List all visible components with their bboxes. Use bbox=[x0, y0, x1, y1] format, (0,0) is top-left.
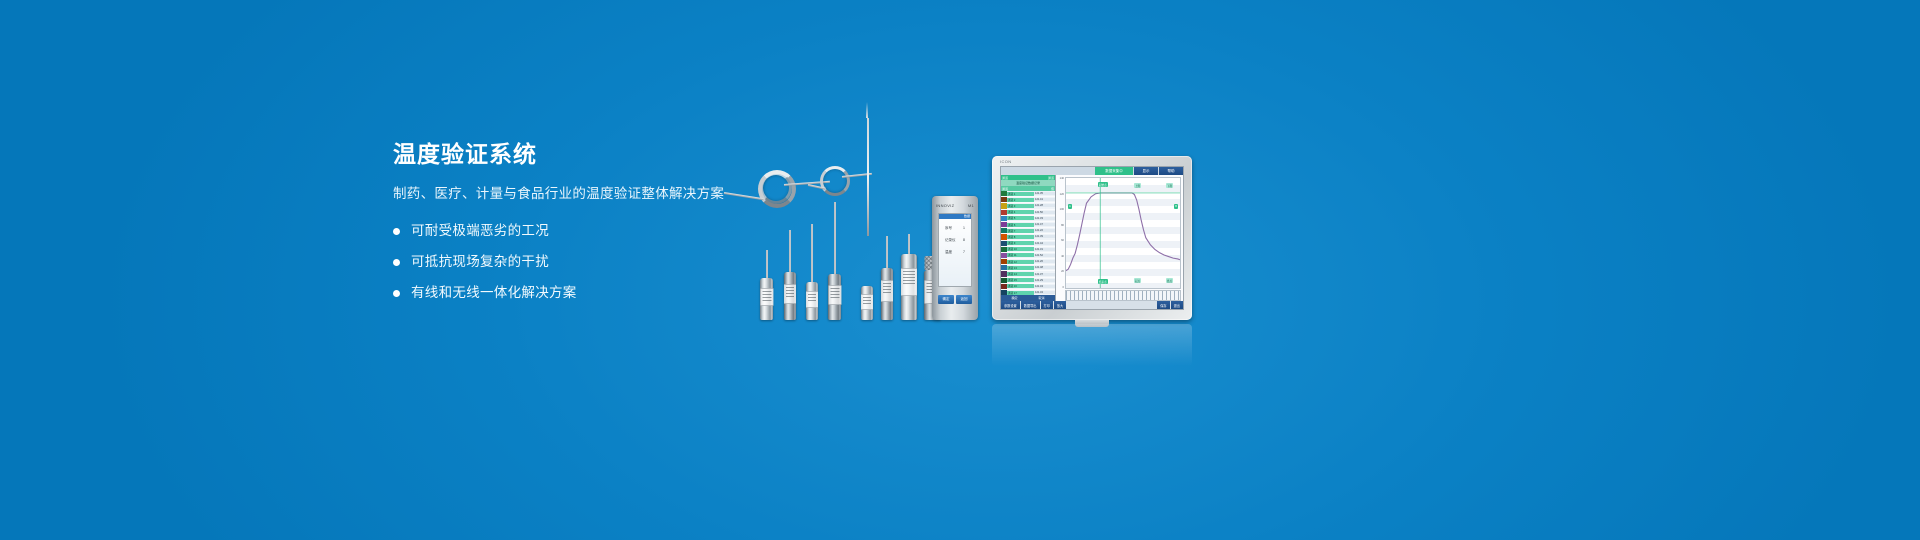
probe-coil-ring-inner bbox=[760, 172, 792, 204]
bottom-button-exit[interactable]: 退出 bbox=[1171, 301, 1183, 309]
channel-name-cell: 通道 15 bbox=[1007, 278, 1034, 282]
channel-value-cell: 121.28 bbox=[1034, 204, 1055, 207]
sensor-cylinder-7 bbox=[901, 234, 917, 320]
channel-value-cell: 121.52 bbox=[1034, 254, 1055, 257]
chart-y-tick: 0 bbox=[1063, 286, 1064, 289]
monitor-body: 通道 通道 温度验证数据记录 通道 值 通道 1121.35通道 2121.41… bbox=[1001, 175, 1183, 301]
bullet-dot-icon bbox=[393, 259, 400, 266]
channel-table-title: 通道 bbox=[1002, 176, 1008, 180]
chart-y-tick: 40 bbox=[1061, 255, 1064, 258]
sensor-label bbox=[784, 284, 796, 304]
monitor-bottom-toolbar: 参数设置 数据导出 打印 放大 保存 退出 bbox=[1001, 301, 1183, 309]
handheld-row-label: 记录仪 bbox=[945, 238, 956, 243]
handheld-data-row: 记录仪 8 bbox=[939, 238, 971, 243]
bottom-button-export[interactable]: 数据导出 bbox=[1021, 301, 1040, 309]
marker-lower-limit: 下限 bbox=[1166, 183, 1173, 188]
monitor-reflection bbox=[992, 324, 1192, 366]
bullet-dot-icon bbox=[393, 228, 400, 235]
channel-name-cell: 通道 4 bbox=[1007, 210, 1034, 214]
channel-name-cell: 通道 11 bbox=[1007, 253, 1034, 257]
handheld-titlebar: 数据 bbox=[939, 214, 971, 219]
needle-probe-tip bbox=[866, 102, 868, 118]
chart-x-axis[interactable] bbox=[1065, 290, 1181, 301]
channel-value-cell: 121.47 bbox=[1034, 223, 1055, 226]
sensor-stem bbox=[834, 202, 836, 274]
monitor-device: ICON 数据采集中 显示 帮助 通道 通道 温度验证数据 bbox=[992, 156, 1192, 320]
sensor-cylinder-6 bbox=[881, 236, 893, 320]
handheld-row-label: 序号 bbox=[945, 226, 952, 231]
handheld-row-value: 1 bbox=[963, 226, 965, 231]
temperature-curve bbox=[1066, 193, 1180, 271]
sensor-label bbox=[901, 268, 917, 296]
product-composite: INNOVIZ M1 数据 序号 1 记录仪 8 温度 7 bbox=[700, 120, 1220, 320]
handheld-screen-title: 数据 bbox=[939, 214, 971, 219]
channel-name-cell: 通道 9 bbox=[1007, 241, 1034, 245]
channel-name-cell: 通道 13 bbox=[1007, 266, 1034, 270]
monitor-logo-label: ICON bbox=[1000, 159, 1012, 164]
channel-name-cell: 通道 17 bbox=[1007, 291, 1034, 295]
handheld-data-row: 温度 7 bbox=[939, 250, 971, 255]
marker-upper-limit: 上限 bbox=[1134, 183, 1141, 188]
feature-bullet-label: 可抵抗现场复杂的干扰 bbox=[411, 253, 549, 271]
channel-name-cell: 通道 5 bbox=[1007, 216, 1034, 220]
channel-value-cell: 121.34 bbox=[1034, 291, 1055, 294]
toolbar-help-button[interactable]: 帮助 bbox=[1159, 167, 1183, 175]
chart-plot-area: A B 起始点 结束点 上限 下限 起点 终点 bbox=[1065, 177, 1181, 289]
marker-bottom-center[interactable]: 结束点 bbox=[1098, 279, 1108, 284]
sensor-label bbox=[861, 294, 873, 310]
marker-start-point: 起点 bbox=[1134, 278, 1141, 283]
monitor-screen: 数据采集中 显示 帮助 通道 通道 温度验证数据记录 通 bbox=[1000, 166, 1184, 310]
sensor-cylinder-5 bbox=[861, 280, 873, 320]
channel-value-cell: 121.43 bbox=[1034, 285, 1055, 288]
sensor-stem bbox=[789, 230, 791, 272]
handheld-confirm-button[interactable]: 确定 bbox=[938, 295, 954, 304]
sensor-stem bbox=[766, 250, 768, 278]
channel-value-cell: 121.48 bbox=[1034, 266, 1055, 269]
sensor-stem bbox=[886, 236, 888, 268]
handheld-data-row: 序号 1 bbox=[939, 226, 971, 231]
channel-value-cell: 121.50 bbox=[1034, 211, 1055, 214]
sensor-label bbox=[806, 291, 818, 308]
chart-y-tick: 20 bbox=[1061, 270, 1064, 273]
feature-bullet-label: 可耐受极端恶劣的工况 bbox=[411, 222, 549, 240]
bottom-button-settings[interactable]: 参数设置 bbox=[1001, 301, 1020, 309]
toolbar-display-button[interactable]: 显示 bbox=[1134, 167, 1158, 175]
channel-name-cell: 通道 6 bbox=[1007, 223, 1034, 227]
sensor-cylinder-4 bbox=[828, 202, 841, 320]
sensor-cylinder-3 bbox=[806, 224, 818, 320]
channel-table-subtitle: 温度验证数据记录 bbox=[1016, 181, 1040, 185]
sensor-stem bbox=[811, 224, 813, 282]
bottom-button-print[interactable]: 打印 bbox=[1041, 301, 1053, 309]
handheld-screen: 数据 序号 1 记录仪 8 温度 7 bbox=[938, 213, 972, 287]
sensor-cylinder-2 bbox=[784, 230, 796, 320]
bullet-dot-icon bbox=[393, 290, 400, 297]
bottom-button-save[interactable]: 保存 bbox=[1157, 301, 1169, 309]
channel-value-cell: 121.37 bbox=[1034, 273, 1055, 276]
channel-name-cell: 通道 1 bbox=[1007, 192, 1034, 196]
channel-value-cell: 121.39 bbox=[1034, 235, 1055, 238]
channel-name-cell: 通道 3 bbox=[1007, 204, 1034, 208]
marker-left[interactable]: A bbox=[1068, 204, 1072, 209]
toolbar-spacer bbox=[1001, 167, 1094, 175]
handheld-button-bar: 确定 返回 bbox=[938, 295, 972, 304]
channel-table-title-right: 通道 bbox=[1048, 176, 1054, 180]
handheld-back-button[interactable]: 返回 bbox=[956, 295, 972, 304]
channel-table[interactable]: 通道 通道 温度验证数据记录 通道 值 通道 1121.35通道 2121.41… bbox=[1001, 175, 1056, 301]
channel-name-cell: 通道 10 bbox=[1007, 247, 1034, 251]
marker-top-center[interactable]: 起始点 bbox=[1098, 182, 1108, 187]
channel-value-cell: 121.31 bbox=[1034, 248, 1055, 251]
probe-coil-ring bbox=[820, 166, 850, 196]
chart-y-tick: 80 bbox=[1061, 224, 1064, 227]
channel-value-cell: 121.44 bbox=[1034, 242, 1055, 245]
hero-banner: 温度验证系统 制药、医疗、计量与食品行业的温度验证整体解决方案 可耐受极端恶劣的… bbox=[0, 0, 1920, 540]
channel-table-rows: 通道 1121.35通道 2121.41通道 3121.28通道 4121.50… bbox=[1001, 191, 1055, 295]
channel-name-cell: 通道 7 bbox=[1007, 229, 1034, 233]
channel-name-cell: 通道 8 bbox=[1007, 235, 1034, 239]
handheld-brand-label: INNOVIZ bbox=[936, 203, 954, 208]
chart-y-tick: 140 bbox=[1060, 177, 1064, 180]
acquisition-status-badge: 数据采集中 bbox=[1095, 167, 1133, 175]
channel-value-cell: 121.29 bbox=[1034, 279, 1055, 282]
channel-value-cell: 121.35 bbox=[1034, 192, 1055, 195]
marker-right[interactable]: B bbox=[1174, 204, 1178, 209]
channel-name-cell: 通道 12 bbox=[1007, 260, 1034, 264]
marker-end-point: 终点 bbox=[1166, 278, 1173, 283]
channel-name-cell: 通道 16 bbox=[1007, 284, 1034, 288]
sensor-label bbox=[881, 280, 893, 302]
sensor-stem bbox=[908, 234, 910, 254]
channel-column-header: 通道 bbox=[1002, 187, 1008, 191]
sensor-label bbox=[760, 288, 773, 306]
monitor-toolbar: 数据采集中 显示 帮助 bbox=[1001, 167, 1183, 175]
handheld-device[interactable]: INNOVIZ M1 数据 序号 1 记录仪 8 温度 7 bbox=[932, 196, 978, 320]
bottom-toolbar-spacer bbox=[1067, 301, 1156, 309]
handheld-row-label: 温度 bbox=[945, 250, 952, 255]
temperature-chart: 140120100806040200 A B 起始点 结束点 上限 bbox=[1056, 175, 1183, 301]
needle-probe-shaft bbox=[867, 118, 869, 236]
channel-value-cell: 121.33 bbox=[1034, 217, 1055, 220]
channel-value-cell: 121.41 bbox=[1034, 198, 1055, 201]
sensor-cylinder-1 bbox=[760, 250, 773, 320]
sensor-label bbox=[828, 285, 841, 305]
chart-y-tick: 100 bbox=[1060, 208, 1064, 211]
handheld-model-label: M1 bbox=[968, 203, 974, 208]
chart-y-axis: 140120100806040200 bbox=[1056, 175, 1065, 289]
handheld-row-value: 7 bbox=[963, 250, 965, 255]
value-column-header: 值 bbox=[1051, 187, 1054, 191]
chart-y-tick: 60 bbox=[1061, 239, 1064, 242]
handheld-brand-bar: INNOVIZ M1 bbox=[936, 202, 974, 209]
channel-value-cell: 121.26 bbox=[1034, 260, 1055, 263]
chart-y-tick: 120 bbox=[1060, 193, 1064, 196]
handheld-row-value: 8 bbox=[963, 238, 965, 243]
chart-svg bbox=[1066, 178, 1180, 288]
channel-name-cell: 通道 2 bbox=[1007, 198, 1034, 202]
feature-bullet-label: 有线和无线一体化解决方案 bbox=[411, 284, 577, 302]
bottom-button-zoom[interactable]: 放大 bbox=[1054, 301, 1066, 309]
channel-value-cell: 121.22 bbox=[1034, 229, 1055, 232]
channel-name-cell: 通道 14 bbox=[1007, 272, 1034, 276]
